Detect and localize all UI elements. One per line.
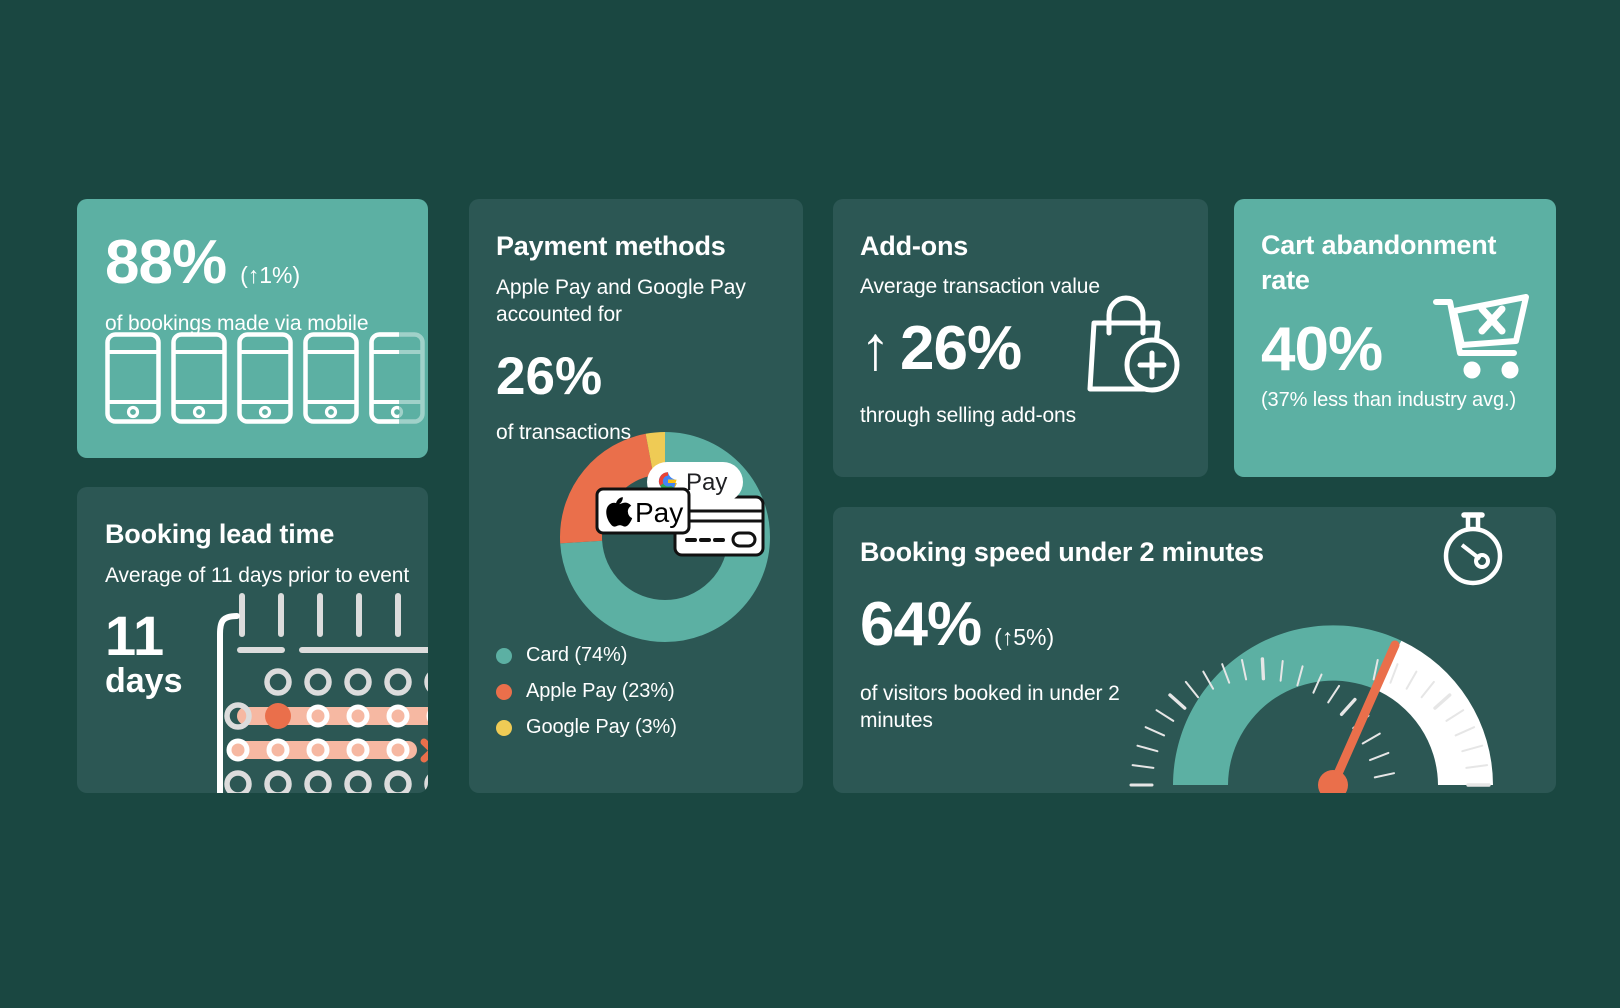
cart-remove-icon	[1430, 291, 1536, 383]
card-payment-methods: Payment methods Apple Pay and Google Pay…	[469, 199, 803, 793]
calendar-icon	[212, 592, 428, 793]
cart-note: (37% less than industry avg.)	[1261, 387, 1516, 413]
legend-item: Google Pay (3%)	[496, 716, 677, 739]
phone-icon	[303, 332, 359, 424]
card-cart-abandonment: Cart abandonment rate 40% (37% less than…	[1234, 199, 1556, 477]
addons-up-arrow-icon: ↑	[860, 318, 890, 380]
card-booking-lead-time: Booking lead time Average of 11 days pri…	[77, 487, 428, 793]
mobile-stat-row: 88% (↑1%)	[105, 232, 428, 294]
card-booking-speed: Booking speed under 2 minutes 64% (↑5%) …	[833, 507, 1556, 793]
payment-legend: Card (74%) Apple Pay (23%) Google Pay (3…	[496, 644, 677, 752]
phone-icon	[171, 332, 227, 424]
phone-icon-group	[105, 332, 425, 424]
speed-value: 64%	[860, 594, 981, 656]
speed-delta: (↑5%)	[994, 624, 1054, 651]
cart-title: Cart abandonment rate	[1261, 228, 1501, 297]
speed-caption: of visitors booked in under 2 minutes	[860, 680, 1135, 735]
google-pay-label: Pay	[686, 469, 727, 496]
payment-methods-title: Payment methods	[496, 229, 803, 264]
legend-item: Card (74%)	[496, 644, 677, 667]
booking-speed-gauge	[1123, 575, 1543, 793]
speed-title: Booking speed under 2 minutes	[860, 535, 1290, 570]
mobile-percent-value: 88%	[105, 232, 226, 294]
phone-icon	[105, 332, 161, 424]
card-addons: Add-ons Average transaction value ↑ 26% …	[833, 199, 1208, 477]
legend-swatch-card	[496, 648, 512, 664]
lead-time-subtitle: Average of 11 days prior to event	[105, 562, 428, 589]
card-mobile-content: 88% (↑1%) of bookings made via mobile	[77, 199, 428, 337]
lead-time-figure: 11 days	[105, 607, 183, 700]
legend-label-google-pay: Google Pay (3%)	[526, 716, 677, 739]
legend-swatch-apple-pay	[496, 684, 512, 700]
apple-pay-badge: Pay	[597, 489, 689, 533]
gauge-svg	[1123, 575, 1543, 793]
phone-icon	[237, 332, 293, 424]
mobile-delta: (↑1%)	[240, 262, 300, 289]
payment-methods-value: 26%	[496, 350, 803, 403]
apple-pay-label: Pay	[635, 497, 683, 528]
legend-item: Apple Pay (23%)	[496, 680, 677, 703]
lead-time-title: Booking lead time	[105, 517, 428, 552]
lead-time-value: 11	[105, 607, 183, 664]
addons-value: 26%	[900, 318, 1021, 380]
addons-caption: through selling add-ons	[860, 402, 1208, 429]
infographic-board: 88% (↑1%) of bookings made via mobile	[0, 0, 1620, 1008]
addons-title: Add-ons	[860, 229, 1208, 264]
card-mobile-bookings: 88% (↑1%) of bookings made via mobile	[77, 199, 428, 458]
phone-icon-partial	[369, 332, 425, 424]
legend-swatch-google-pay	[496, 720, 512, 736]
legend-label-apple-pay: Apple Pay (23%)	[526, 680, 675, 703]
payment-badges-group: Pay Pay	[583, 461, 773, 581]
lead-time-unit: days	[105, 664, 183, 700]
legend-label-card: Card (74%)	[526, 644, 627, 667]
payment-donut-chart: Pay Pay	[555, 427, 775, 647]
payment-methods-subtitle: Apple Pay and Google Pay accounted for	[496, 274, 746, 329]
lead-time-content: Booking lead time Average of 11 days pri…	[77, 487, 428, 589]
payment-methods-content: Payment methods Apple Pay and Google Pay…	[469, 199, 803, 446]
shopping-bag-plus-icon	[1072, 289, 1180, 397]
gauge-needle-pivot	[1318, 770, 1348, 793]
